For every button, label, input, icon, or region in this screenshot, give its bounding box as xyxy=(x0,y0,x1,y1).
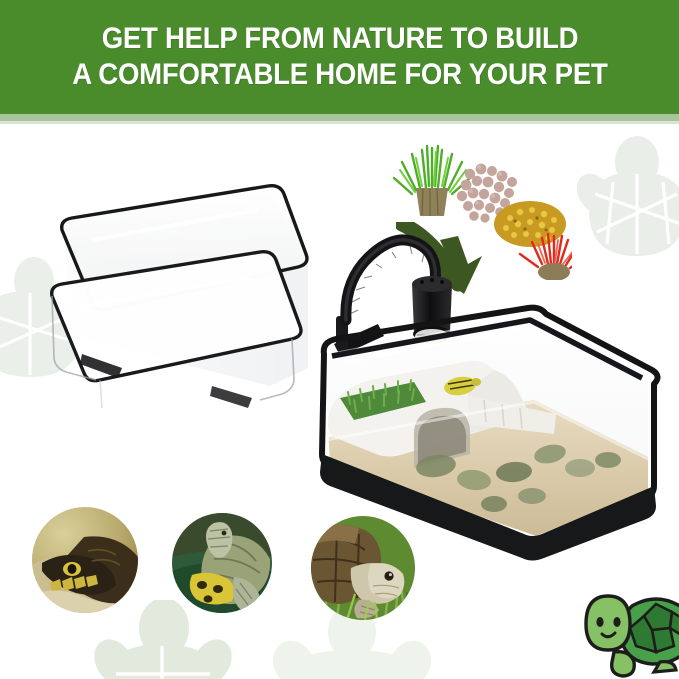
banner-headline-line-1: GET HELP FROM NATURE TO BUILD xyxy=(101,21,578,57)
photo-turtle-head-closeup xyxy=(32,507,138,613)
photo-tortoise-on-grass xyxy=(311,516,415,620)
banner-accent-strip-light xyxy=(0,121,679,124)
banner-headline-line-2: A COMFORTABLE HOME FOR YOUR PET xyxy=(72,57,607,93)
banner-accent-strip xyxy=(0,114,679,121)
empty-glass-tank xyxy=(22,168,322,408)
header-banner: GET HELP FROM NATURE TO BUILD A COMFORTA… xyxy=(0,0,679,114)
cartoon-turtle-sticker xyxy=(560,566,679,679)
photo-turtle-stretching-neck xyxy=(172,513,272,613)
turtle-watermark-bottom-center xyxy=(252,610,452,679)
product-marketing-image: GET HELP FROM NATURE TO BUILD A COMFORTA… xyxy=(0,0,679,679)
